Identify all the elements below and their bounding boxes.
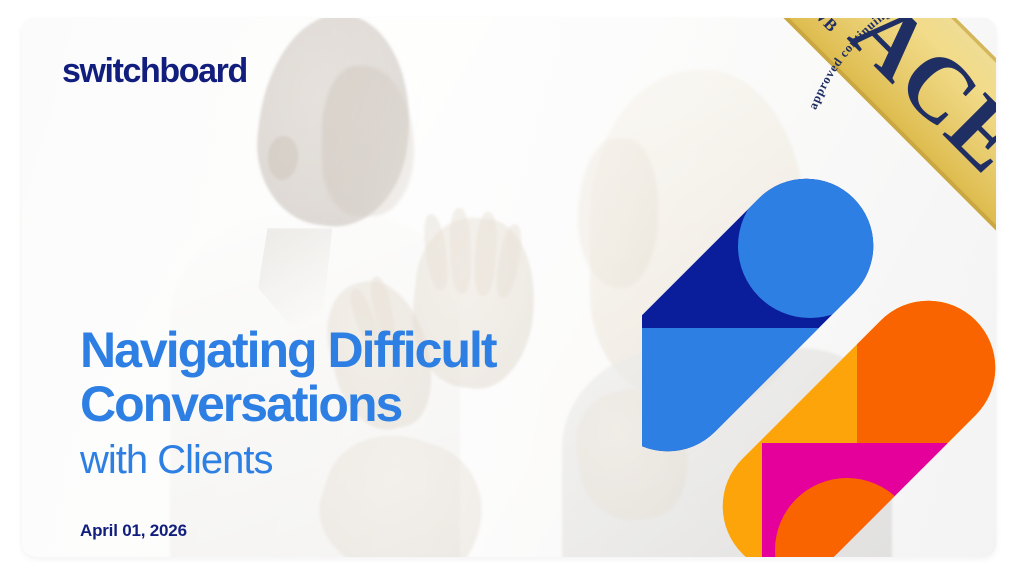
headline-subtitle: with Clients (80, 438, 700, 482)
photo-right-person-face (578, 138, 658, 288)
slide-card: switchboard Navigating Difficult Convers… (22, 18, 996, 557)
switchboard-wordmark: switchboard (62, 54, 247, 88)
event-date: April 01, 2026 (80, 521, 187, 541)
headline-block: Navigating Difficult Conversations with … (80, 323, 700, 482)
webinar-title-slide: switchboard Navigating Difficult Convers… (0, 0, 1024, 576)
headline-line-1: Navigating Difficult (80, 323, 700, 377)
headline-line-2: Conversations (80, 377, 700, 431)
